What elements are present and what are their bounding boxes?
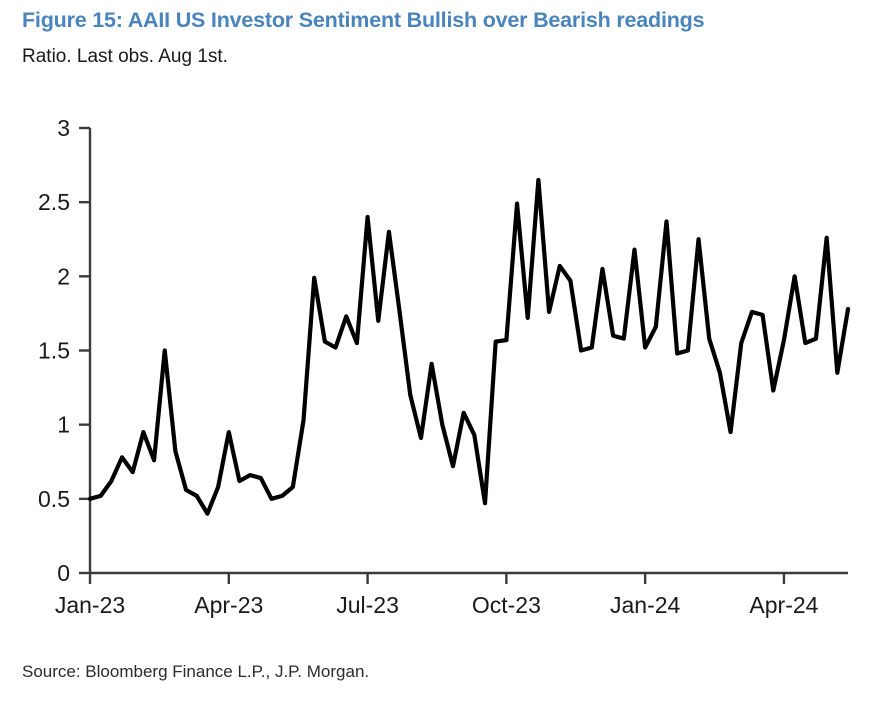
y-tick-label: 0 <box>57 560 70 586</box>
y-tick-label: 1.5 <box>38 338 70 364</box>
y-tick-label: 0.5 <box>38 486 70 512</box>
x-tick-label: Jan-24 <box>610 592 681 618</box>
y-tick-label: 2.5 <box>38 189 70 215</box>
figure-container: Figure 15: AAII US Investor Sentiment Bu… <box>0 0 886 702</box>
plot-area: 00.511.522.53 Jan-23Apr-23Jul-23Oct-23Ja… <box>0 100 886 630</box>
y-tick-label: 1 <box>57 412 70 438</box>
y-axis: 00.511.522.53 <box>38 115 90 586</box>
data-series <box>90 180 848 514</box>
x-tick-label: Apr-23 <box>194 592 263 618</box>
y-tick-label: 2 <box>57 263 70 289</box>
series-line-aaii-bull-bear-ratio <box>90 180 848 514</box>
figure-subtitle: Ratio. Last obs. Aug 1st. <box>22 46 872 68</box>
x-tick-label: Jan-23 <box>55 592 125 618</box>
line-chart: 00.511.522.53 Jan-23Apr-23Jul-23Oct-23Ja… <box>0 100 886 630</box>
x-tick-label: Apr-24 <box>749 592 818 618</box>
figure-source: Source: Bloomberg Finance L.P., J.P. Mor… <box>22 662 872 682</box>
x-axis: Jan-23Apr-23Jul-23Oct-23Jan-24Apr-24Jul-… <box>55 573 886 618</box>
figure-title: Figure 15: AAII US Investor Sentiment Bu… <box>22 8 872 33</box>
x-tick-label: Oct-23 <box>472 592 541 618</box>
y-tick-label: 3 <box>57 115 70 141</box>
x-tick-label: Jul-23 <box>336 592 399 618</box>
